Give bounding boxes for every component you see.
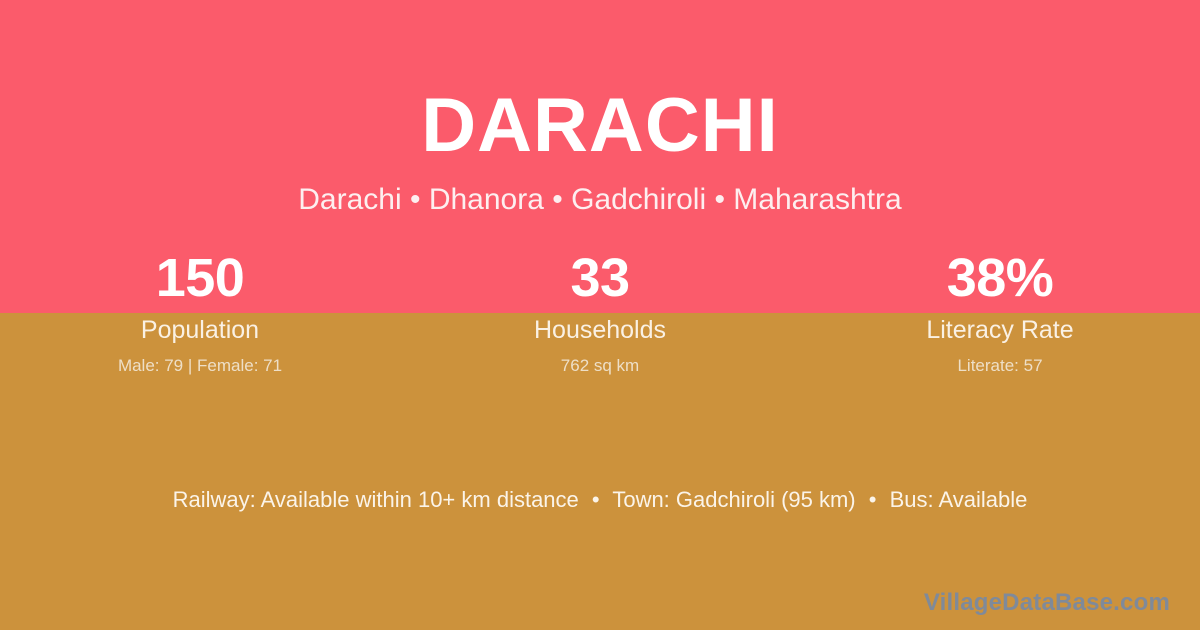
stat-value: 33 [400,246,800,310]
town-info: Town: Gadchiroli (95 km) [612,487,855,512]
bus-info: Bus: Available [890,487,1028,512]
site-brand-watermark: VillageDataBase.com [924,588,1170,618]
railway-info: Railway: Available within 10+ km distanc… [173,487,579,512]
stat-sublabel: Male: 79 | Female: 71 [0,355,400,376]
stat-literacy-rate: 38% Literacy Rate Literate: 57 [800,246,1200,376]
amenities-info-line: Railway: Available within 10+ km distanc… [0,486,1200,514]
bullet-separator-icon: • [585,487,607,512]
stat-population: 150 Population Male: 79 | Female: 71 [0,246,400,376]
card-content: DARACHI Darachi • Dhanora • Gadchiroli •… [0,0,1200,630]
breadcrumb: Darachi • Dhanora • Gadchiroli • Maharas… [0,181,1200,219]
page-title: DARACHI [0,82,1200,170]
bullet-separator-icon: • [862,487,884,512]
village-info-card: DARACHI Darachi • Dhanora • Gadchiroli •… [0,0,1200,630]
stat-label: Households [400,315,800,345]
stats-row: 150 Population Male: 79 | Female: 71 33 … [0,246,1200,376]
stat-value: 38% [800,246,1200,310]
stat-label: Population [0,315,400,345]
stat-value: 150 [0,246,400,310]
stat-sublabel: 762 sq km [400,355,800,376]
stat-households: 33 Households 762 sq km [400,246,800,376]
stat-sublabel: Literate: 57 [800,355,1200,376]
stat-label: Literacy Rate [800,315,1200,345]
